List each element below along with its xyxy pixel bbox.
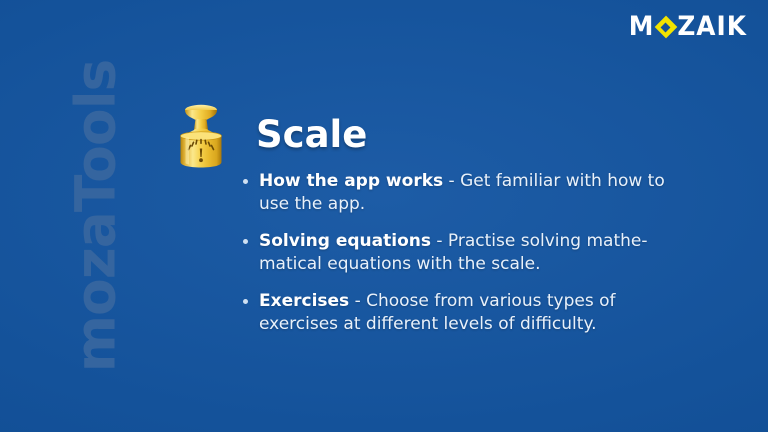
list-item-text: Solving equations - Practise solving mat… xyxy=(259,230,683,276)
watermark-mozatools: mozaTools xyxy=(60,0,130,432)
slide-root: mozaTools M ZAIK xyxy=(0,0,768,432)
list-item-text: Exercises - Choose from various types of… xyxy=(259,290,683,336)
list-item-lead: Exercises xyxy=(259,291,349,311)
mozaik-logo: M ZAIK xyxy=(629,13,746,41)
watermark-label: mozaTools xyxy=(63,60,127,373)
diamond-icon xyxy=(655,16,677,38)
logo-text-m: M xyxy=(628,13,654,41)
bullet-dot-icon xyxy=(243,239,248,244)
weight-icon xyxy=(168,100,234,170)
list-item: Solving equations - Practise solving mat… xyxy=(243,230,683,276)
bullet-dot-icon xyxy=(243,299,248,304)
list-item: Exercises - Choose from various types of… xyxy=(243,290,683,336)
slide-header: Scale xyxy=(168,100,367,170)
list-item-text: How the app works - Get familiar with ho… xyxy=(259,170,683,216)
feature-list: How the app works - Get familiar with ho… xyxy=(243,170,683,350)
list-item-lead: How the app works xyxy=(259,171,443,191)
list-item-lead: Solving equations xyxy=(259,231,431,251)
page-title: Scale xyxy=(256,115,367,155)
logo-text-zaik: ZAIK xyxy=(677,13,747,41)
list-item: How the app works - Get familiar with ho… xyxy=(243,170,683,216)
bullet-dot-icon xyxy=(243,179,248,184)
